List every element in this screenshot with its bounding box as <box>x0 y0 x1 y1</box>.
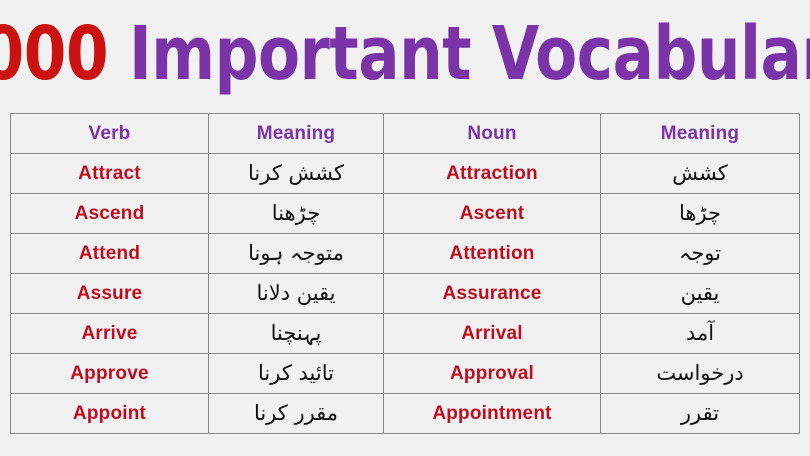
vocabulary-table: Verb Meaning Noun Meaning Attract کشش کر… <box>10 113 800 434</box>
table-row: Attend متوجہ ہونا Attention توجہ <box>11 234 800 274</box>
table-header-row: Verb Meaning Noun Meaning <box>11 114 800 154</box>
cell-noun-meaning: یقین <box>601 274 800 314</box>
cell-noun: Approval <box>384 354 601 394</box>
table-row: Assure یقین دلانا Assurance یقین <box>11 274 800 314</box>
cell-verb-meaning: کشش کرنا <box>209 154 384 194</box>
cell-noun-meaning: درخواست <box>601 354 800 394</box>
table-row: Appoint مقرر کرنا Appointment تقرر <box>11 394 800 434</box>
cell-verb-meaning: چڑھنا <box>209 194 384 234</box>
column-header-verb-meaning: Meaning <box>209 114 384 154</box>
page-title-text: 1000 Important Vocabulary <box>0 17 810 91</box>
table-row: Arrive پہنچنا Arrival آمد <box>11 314 800 354</box>
cell-noun-meaning: چڑھا <box>601 194 800 234</box>
cell-noun-meaning: توجہ <box>601 234 800 274</box>
cell-verb: Attend <box>11 234 209 274</box>
cell-verb: Approve <box>11 354 209 394</box>
cell-noun: Ascent <box>384 194 601 234</box>
cell-noun: Attraction <box>384 154 601 194</box>
cell-verb-meaning: یقین دلانا <box>209 274 384 314</box>
cell-verb: Arrive <box>11 314 209 354</box>
table-row: Approve تائید کرنا Approval درخواست <box>11 354 800 394</box>
cell-noun-meaning: تقرر <box>601 394 800 434</box>
cell-noun: Assurance <box>384 274 601 314</box>
cell-noun: Arrival <box>384 314 601 354</box>
column-header-noun-meaning: Meaning <box>601 114 800 154</box>
cell-verb: Assure <box>11 274 209 314</box>
cell-verb: Attract <box>11 154 209 194</box>
cell-verb-meaning: تائید کرنا <box>209 354 384 394</box>
cell-verb-meaning: پہنچنا <box>209 314 384 354</box>
cell-noun-meaning: آمد <box>601 314 800 354</box>
cell-verb: Ascend <box>11 194 209 234</box>
page-title-rest: Important Vocabulary <box>108 11 810 97</box>
cell-verb-meaning: متوجہ ہونا <box>209 234 384 274</box>
column-header-verb: Verb <box>11 114 209 154</box>
table-row: Ascend چڑھنا Ascent چڑھا <box>11 194 800 234</box>
page-title: 1000 Important Vocabulary <box>0 0 810 108</box>
cell-verb: Appoint <box>11 394 209 434</box>
cell-noun: Appointment <box>384 394 601 434</box>
cell-noun-meaning: کشش <box>601 154 800 194</box>
cell-noun: Attention <box>384 234 601 274</box>
table-row: Attract کشش کرنا Attraction کشش <box>11 154 800 194</box>
column-header-noun: Noun <box>384 114 601 154</box>
page-title-number: 1000 <box>0 11 108 97</box>
cell-verb-meaning: مقرر کرنا <box>209 394 384 434</box>
vocabulary-page: 1000 Important Vocabulary Verb Meaning N… <box>0 0 810 456</box>
